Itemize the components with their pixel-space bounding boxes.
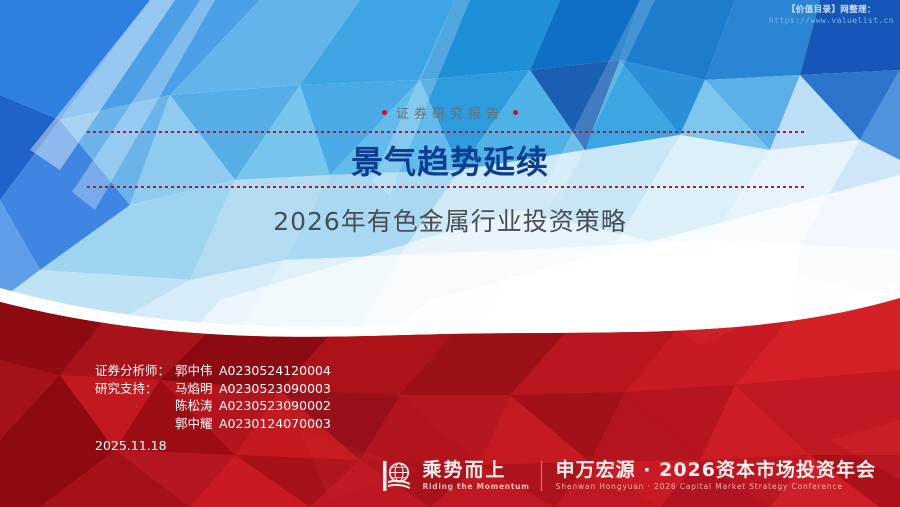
slogan-block: 乘势而上 Riding the Momentum: [423, 460, 530, 492]
analyst-code: A0230523090002: [219, 397, 331, 415]
bullet-dot-right: [513, 110, 518, 115]
analyst-name: 陈松涛: [175, 397, 219, 415]
analyst-credits: 证券分析师： 郭中伟 A0230524120004 研究支持： 马焰明 A023…: [95, 362, 331, 432]
conference-name-block: 申万宏源 · 2026资本市场投资年会 Shenwan Hongyuan · 2…: [556, 460, 876, 492]
analyst-row: 郭中耀 A0230124070003: [95, 415, 331, 433]
analyst-name: 马焰明: [175, 380, 219, 398]
conference-logo-lockup: 乘势而上 Riding the Momentum 申万宏源 · 2026资本市场…: [380, 459, 876, 493]
report-type-kicker: 证券研究报告: [0, 103, 900, 122]
analyst-row: 陈松涛 A0230523090002: [95, 397, 331, 415]
report-type-label: 证券研究报告: [396, 103, 504, 122]
conference-name-english: Shenwan Hongyuan · 2026 Capital Market S…: [556, 481, 876, 492]
page-subtitle: 2026年有色金属行业投资策略: [0, 206, 900, 238]
slogan-chinese: 乘势而上: [423, 460, 530, 481]
slogan-english: Riding the Momentum: [423, 481, 530, 492]
analyst-row: 证券分析师： 郭中伟 A0230524120004: [95, 362, 331, 380]
analyst-label: 证券分析师：: [95, 362, 175, 380]
shenwan-hongyuan-emblem-icon: [380, 459, 414, 493]
report-date: 2025.11.18: [95, 438, 167, 453]
page-title: 景气趋势延续: [0, 143, 900, 181]
conference-name-chinese: 申万宏源 · 2026资本市场投资年会: [556, 460, 876, 481]
analyst-label: [95, 415, 175, 433]
divider-dotted-bottom: [87, 186, 805, 188]
analyst-label: [95, 397, 175, 415]
analyst-label: 研究支持：: [95, 380, 175, 398]
analyst-name: 郭中伟: [175, 362, 219, 380]
analyst-code: A0230523090003: [219, 380, 331, 398]
analyst-name: 郭中耀: [175, 415, 219, 433]
analyst-code: A0230124070003: [219, 415, 331, 433]
presentation-slide: 【价值目录】网整理： https://www.valuelist.cn 证券研究…: [0, 0, 900, 507]
analyst-code: A0230524120004: [219, 362, 331, 380]
divider-dotted-top: [87, 131, 805, 133]
logo-divider: [541, 461, 542, 491]
bullet-dot-left: [382, 110, 387, 115]
analyst-row: 研究支持： 马焰明 A0230523090003: [95, 380, 331, 398]
